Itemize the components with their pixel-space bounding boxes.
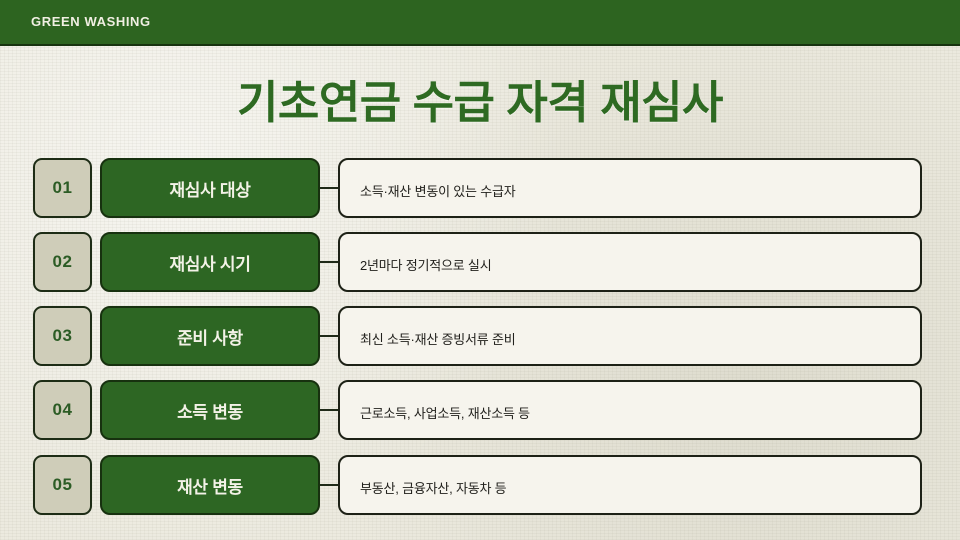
connector-line <box>320 187 340 189</box>
row-number-badge: 04 <box>33 380 92 440</box>
row-description-text: 최신 소득·재산 증빙서류 준비 <box>360 329 516 348</box>
row-description-text: 소득·재산 변동이 있는 수급자 <box>360 181 516 200</box>
row-description-box: 소득·재산 변동이 있는 수급자 <box>338 158 922 218</box>
connector-line <box>320 261 340 263</box>
row-description-text: 2년마다 정기적으로 실시 <box>360 255 491 274</box>
list-item[interactable]: 02 재심사 시기 2년마다 정기적으로 실시 <box>0 232 960 292</box>
list-item[interactable]: 01 재심사 대상 소득·재산 변동이 있는 수급자 <box>0 158 960 218</box>
row-label-box[interactable]: 재산 변동 <box>100 455 320 515</box>
connector-line <box>320 335 340 337</box>
row-description-box: 2년마다 정기적으로 실시 <box>338 232 922 292</box>
row-number-badge: 03 <box>33 306 92 366</box>
row-number-badge: 02 <box>33 232 92 292</box>
connector-line <box>320 409 340 411</box>
row-label-box[interactable]: 준비 사항 <box>100 306 320 366</box>
row-label-box[interactable]: 재심사 시기 <box>100 232 320 292</box>
row-description-text: 근로소득, 사업소득, 재산소득 등 <box>360 403 530 422</box>
list-item[interactable]: 03 준비 사항 최신 소득·재산 증빙서류 준비 <box>0 306 960 366</box>
row-description-box: 최신 소득·재산 증빙서류 준비 <box>338 306 922 366</box>
row-number-badge: 01 <box>33 158 92 218</box>
row-number-badge: 05 <box>33 455 92 515</box>
rows-container: 01 재심사 대상 소득·재산 변동이 있는 수급자 02 재심사 시기 2년마… <box>0 0 960 540</box>
connector-line <box>320 484 340 486</box>
list-item[interactable]: 05 재산 변동 부동산, 금융자산, 자동차 등 <box>0 455 960 515</box>
list-item[interactable]: 04 소득 변동 근로소득, 사업소득, 재산소득 등 <box>0 380 960 440</box>
row-description-box: 근로소득, 사업소득, 재산소득 등 <box>338 380 922 440</box>
row-description-box: 부동산, 금융자산, 자동차 등 <box>338 455 922 515</box>
slide-canvas: GREEN WASHING 기초연금 수급 자격 재심사 01 재심사 대상 소… <box>0 0 960 540</box>
row-description-text: 부동산, 금융자산, 자동차 등 <box>360 478 506 497</box>
row-label-box[interactable]: 소득 변동 <box>100 380 320 440</box>
row-label-box[interactable]: 재심사 대상 <box>100 158 320 218</box>
